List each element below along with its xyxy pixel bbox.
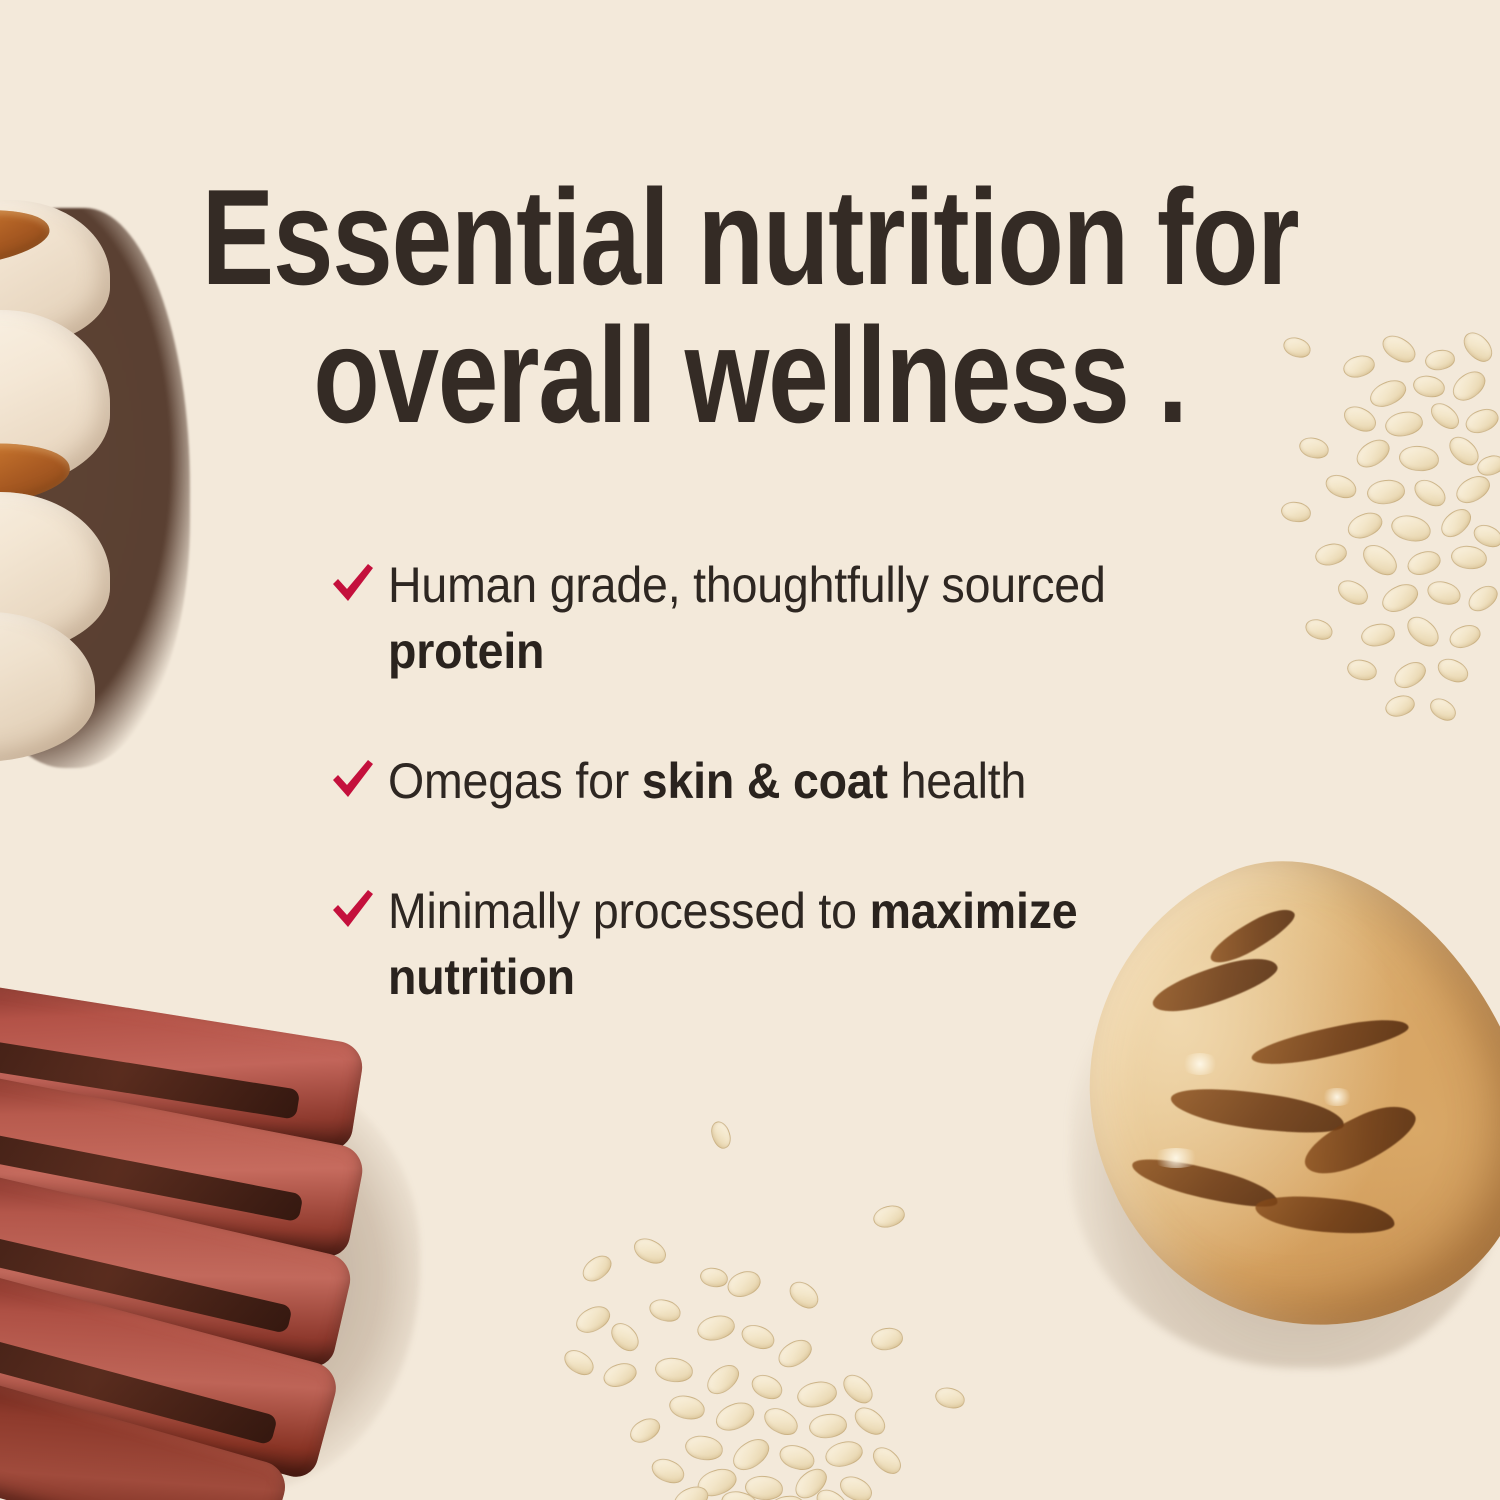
oat-flake bbox=[850, 1402, 890, 1440]
oat-flake bbox=[1334, 575, 1372, 609]
oat-flake bbox=[1424, 348, 1456, 372]
oat-flake bbox=[1411, 373, 1447, 400]
oat-flake bbox=[1322, 470, 1360, 502]
rolled-oats-cluster-bottom-center bbox=[545, 1120, 975, 1500]
list-item-text: Omegas for skin & coat health bbox=[388, 748, 1026, 814]
oat-flake bbox=[578, 1251, 616, 1287]
check-icon bbox=[330, 558, 374, 610]
rolled-oats-cluster-top-right bbox=[1285, 330, 1500, 730]
oat-flake bbox=[1366, 478, 1406, 506]
check-icon bbox=[330, 754, 374, 806]
oat-flake bbox=[1436, 504, 1476, 543]
oat-flake bbox=[1458, 327, 1497, 367]
oat-flake bbox=[683, 1433, 725, 1463]
chicken-gloss-highlight bbox=[1150, 1148, 1202, 1168]
oat-flake bbox=[1434, 654, 1472, 687]
oat-flake bbox=[600, 1359, 639, 1390]
oat-flake bbox=[838, 1369, 878, 1408]
oat-flake bbox=[654, 1355, 695, 1384]
list-item: Omegas for skin & coat health bbox=[330, 748, 1230, 814]
check-icon bbox=[330, 884, 374, 936]
oat-flake bbox=[1378, 330, 1420, 368]
oat-flake bbox=[1447, 366, 1490, 407]
oat-flake bbox=[808, 1412, 848, 1440]
list-item: Human grade, thoughtfully sourced protei… bbox=[330, 552, 1230, 684]
oat-flake bbox=[1398, 444, 1440, 473]
headline-line-1: Essential nutrition for bbox=[150, 168, 1350, 306]
oat-flake bbox=[647, 1296, 684, 1326]
oat-flake bbox=[626, 1414, 664, 1448]
oat-flake bbox=[727, 1433, 774, 1476]
oat-flake bbox=[868, 1442, 906, 1479]
oat-flake bbox=[1389, 512, 1434, 546]
headline-line-2: overall wellness . bbox=[150, 306, 1350, 444]
oat-flake bbox=[1366, 375, 1410, 411]
oat-flake bbox=[698, 1265, 729, 1289]
benefit-text-before: Minimally processed to bbox=[388, 883, 870, 939]
oat-flake bbox=[1404, 547, 1443, 578]
oat-flake bbox=[1383, 692, 1417, 719]
oat-flake bbox=[1341, 352, 1377, 380]
oat-flake bbox=[708, 1119, 734, 1151]
oat-flake bbox=[1383, 409, 1425, 439]
oat-flake bbox=[870, 1326, 905, 1352]
oat-flake bbox=[760, 1403, 803, 1441]
sliced-beef-steak-image bbox=[0, 1012, 460, 1500]
oat-flake bbox=[648, 1454, 688, 1488]
oat-flake bbox=[630, 1233, 670, 1268]
oat-flake bbox=[871, 1202, 907, 1230]
oat-flake bbox=[1281, 334, 1314, 361]
oat-flake bbox=[1424, 577, 1463, 608]
oat-flake bbox=[1452, 471, 1495, 508]
oat-flake bbox=[836, 1471, 876, 1500]
oat-flake bbox=[1359, 621, 1396, 649]
oat-flake bbox=[1464, 581, 1500, 616]
oat-flake bbox=[702, 1359, 745, 1399]
oat-flake bbox=[1345, 657, 1379, 684]
benefit-emphasis: skin & coat bbox=[642, 753, 888, 809]
list-item-text: Minimally processed to maximize nutritio… bbox=[388, 878, 1113, 1010]
oat-flake bbox=[1378, 579, 1423, 617]
oat-flake bbox=[572, 1301, 614, 1337]
benefit-text-before: Omegas for bbox=[388, 753, 642, 809]
oat-flake bbox=[1426, 398, 1463, 434]
oat-flake bbox=[1344, 508, 1386, 543]
chicken-gloss-highlight bbox=[1320, 1088, 1354, 1106]
chicken-gloss-highlight bbox=[1180, 1053, 1220, 1075]
oat-flake bbox=[1402, 611, 1444, 652]
oat-flake bbox=[1302, 615, 1335, 643]
page-title: Essential nutrition for overall wellness… bbox=[0, 168, 1500, 444]
oat-flake bbox=[1450, 544, 1489, 572]
oat-flake bbox=[712, 1397, 758, 1435]
benefit-text-before: Human grade, thoughtfully sourced bbox=[388, 557, 1106, 613]
oat-flake bbox=[1313, 541, 1349, 568]
oat-flake bbox=[1462, 405, 1500, 437]
oat-flake bbox=[1340, 401, 1380, 436]
oat-flake bbox=[1279, 500, 1312, 525]
oat-flake bbox=[1358, 539, 1403, 581]
oat-flake bbox=[606, 1318, 644, 1357]
oat-flake bbox=[1352, 434, 1395, 473]
oat-flake bbox=[560, 1345, 598, 1380]
oat-flake bbox=[724, 1267, 764, 1301]
benefit-text-after: health bbox=[888, 753, 1026, 809]
oat-flake bbox=[795, 1379, 839, 1411]
oat-flake bbox=[823, 1438, 866, 1470]
oat-flake bbox=[738, 1320, 778, 1353]
marketing-banner: Essential nutrition for overall wellness… bbox=[0, 0, 1500, 1500]
benefits-list: Human grade, thoughtfully sourced protei… bbox=[330, 552, 1230, 1010]
oat-flake bbox=[774, 1335, 817, 1373]
oat-flake bbox=[1410, 474, 1450, 511]
oat-flake bbox=[695, 1312, 737, 1343]
sliced-roast-turkey-image bbox=[0, 180, 210, 760]
oat-flake bbox=[933, 1384, 967, 1411]
oat-flake bbox=[1446, 621, 1483, 652]
oat-flake bbox=[667, 1392, 707, 1423]
oat-flake bbox=[748, 1370, 786, 1404]
benefit-emphasis: protein bbox=[388, 623, 544, 679]
oat-flake bbox=[785, 1276, 824, 1313]
oat-flake bbox=[1297, 434, 1331, 461]
list-item: Minimally processed to maximize nutritio… bbox=[330, 878, 1230, 1010]
oat-flake bbox=[1426, 694, 1460, 725]
oat-flake bbox=[1390, 657, 1430, 693]
list-item-text: Human grade, thoughtfully sourced protei… bbox=[388, 552, 1113, 684]
